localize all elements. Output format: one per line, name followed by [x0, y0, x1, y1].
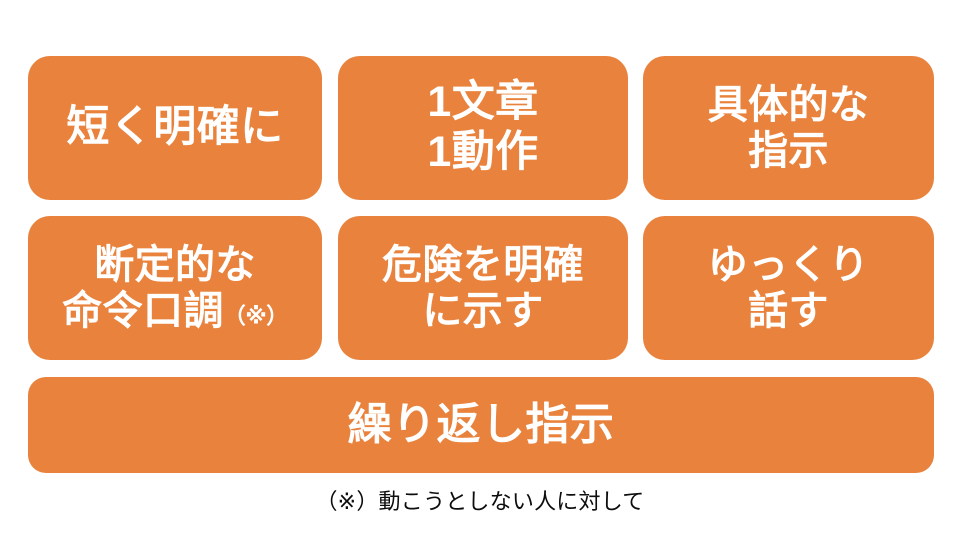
banner-label: 繰り返し指示 [348, 399, 615, 450]
card-label: 危険を明確 に示す [382, 242, 584, 335]
card-label: 断定的な 命令口調（※） [62, 242, 288, 335]
slide-canvas: 短く明確に 1文章 1動作 具体的な 指示 断定的な 命令口調（※） 危険を明確… [0, 0, 960, 540]
card-one-sentence-one-action[interactable]: 1文章 1動作 [338, 56, 628, 200]
footnote-marker: （※） [224, 304, 288, 329]
card-label: ゆっくり 話す [708, 242, 870, 335]
card-label: 具体的な 指示 [708, 82, 870, 175]
card-show-danger-clearly[interactable]: 危険を明確 に示す [338, 216, 628, 360]
card-label: 短く明確に [66, 103, 283, 153]
card-label: 1文章 1動作 [427, 78, 538, 178]
card-assertive-command-tone[interactable]: 断定的な 命令口調（※） [28, 216, 322, 360]
card-repeat-instruction[interactable]: 繰り返し指示 [28, 377, 934, 473]
card-concrete-instruction[interactable]: 具体的な 指示 [643, 56, 934, 200]
footnote-text: （※）動こうとしない人に対して [0, 484, 960, 516]
card-short-and-clear[interactable]: 短く明確に [28, 56, 322, 200]
card-speak-slowly[interactable]: ゆっくり 話す [643, 216, 934, 360]
